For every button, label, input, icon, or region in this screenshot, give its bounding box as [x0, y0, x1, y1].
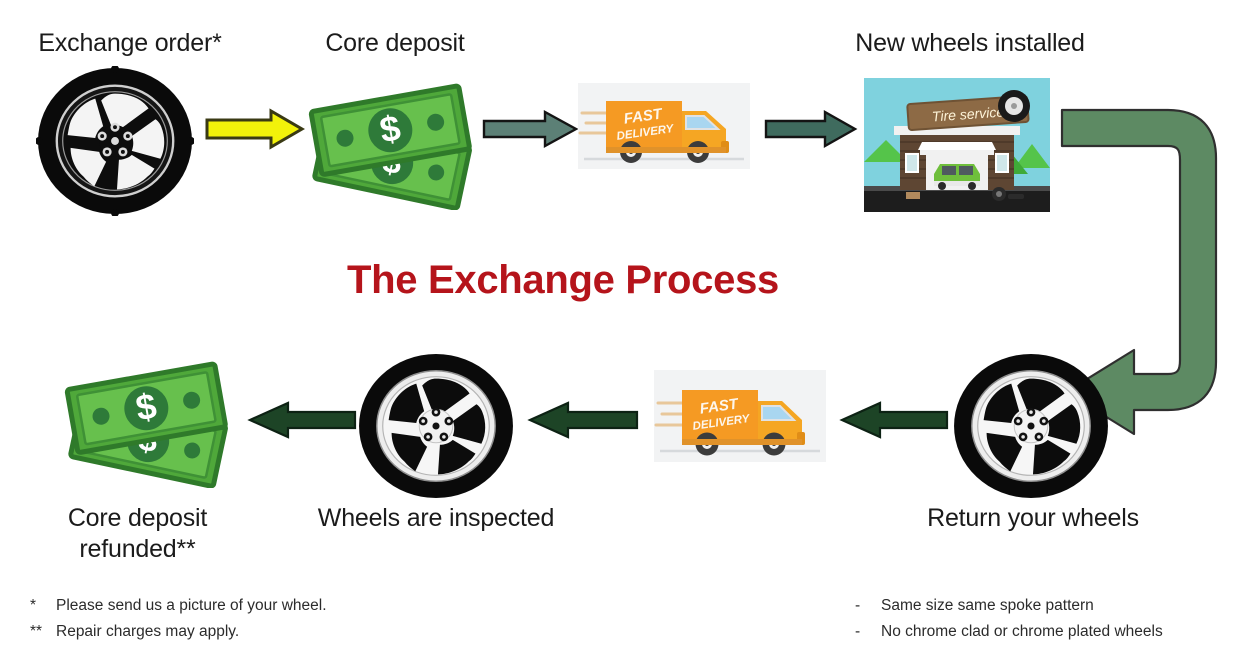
label-core-deposit-refunded-line2: refunded**: [30, 534, 245, 565]
label-core-deposit-refunded-line1: Core deposit: [30, 503, 245, 534]
footnote-left-1-mark: *: [30, 593, 56, 619]
footnote-left-2: **Repair charges may apply.: [30, 619, 327, 645]
arrow-deposit-to-shipping: [483, 108, 578, 150]
label-exchange-order: Exchange order*: [0, 28, 260, 59]
delivery-truck-icon-return: FAST DELIVERY: [654, 370, 826, 462]
footnote-right-1-mark: -: [855, 593, 881, 619]
money-icon-core-deposit: $ $: [302, 74, 482, 210]
footnote-left-1-text: Please send us a picture of your wheel.: [56, 597, 327, 614]
label-core-deposit: Core deposit: [275, 28, 515, 59]
label-wheels-are-inspected: Wheels are inspected: [296, 503, 576, 534]
tire-service-shop-icon: Tire service: [864, 78, 1050, 212]
footnote-right-2-text: No chrome clad or chrome plated wheels: [881, 623, 1163, 640]
footnote-right-1-text: Same size same spoke pattern: [881, 597, 1094, 614]
page-title: The Exchange Process: [347, 258, 779, 303]
wheel-silver-icon-inspected: [357, 352, 515, 500]
wheel-black-icon: [36, 66, 194, 216]
label-return-your-wheels: Return your wheels: [888, 503, 1178, 534]
money-icon-refund: $ $: [58, 352, 238, 488]
exchange-process-diagram: Exchange order* Core deposit New wheels …: [0, 0, 1250, 666]
footnote-right-1: -Same size same spoke pattern: [855, 593, 1163, 619]
footnotes-right: -Same size same spoke pattern -No chrome…: [855, 593, 1163, 645]
arrow-shipping-to-shop: [765, 108, 857, 150]
delivery-truck-icon-outbound: FAST DELIVERY: [578, 83, 750, 169]
label-new-wheels-installed: New wheels installed: [790, 28, 1150, 59]
footnote-left-1: *Please send us a picture of your wheel.: [30, 593, 327, 619]
label-core-deposit-refunded: Core deposit refunded**: [30, 503, 245, 565]
wheel-silver-icon-return: [952, 352, 1110, 500]
footnote-left-2-mark: **: [30, 619, 56, 645]
footnote-right-2-mark: -: [855, 619, 881, 645]
arrow-order-to-deposit: [205, 108, 305, 150]
arrow-inspect-to-refund: [248, 400, 356, 440]
arrow-shipping-to-inspect: [528, 400, 638, 440]
footnotes-left: *Please send us a picture of your wheel.…: [30, 593, 327, 645]
footnote-left-2-text: Repair charges may apply.: [56, 623, 239, 640]
arrow-return-to-shipping: [840, 400, 948, 440]
footnote-right-2: -No chrome clad or chrome plated wheels: [855, 619, 1163, 645]
